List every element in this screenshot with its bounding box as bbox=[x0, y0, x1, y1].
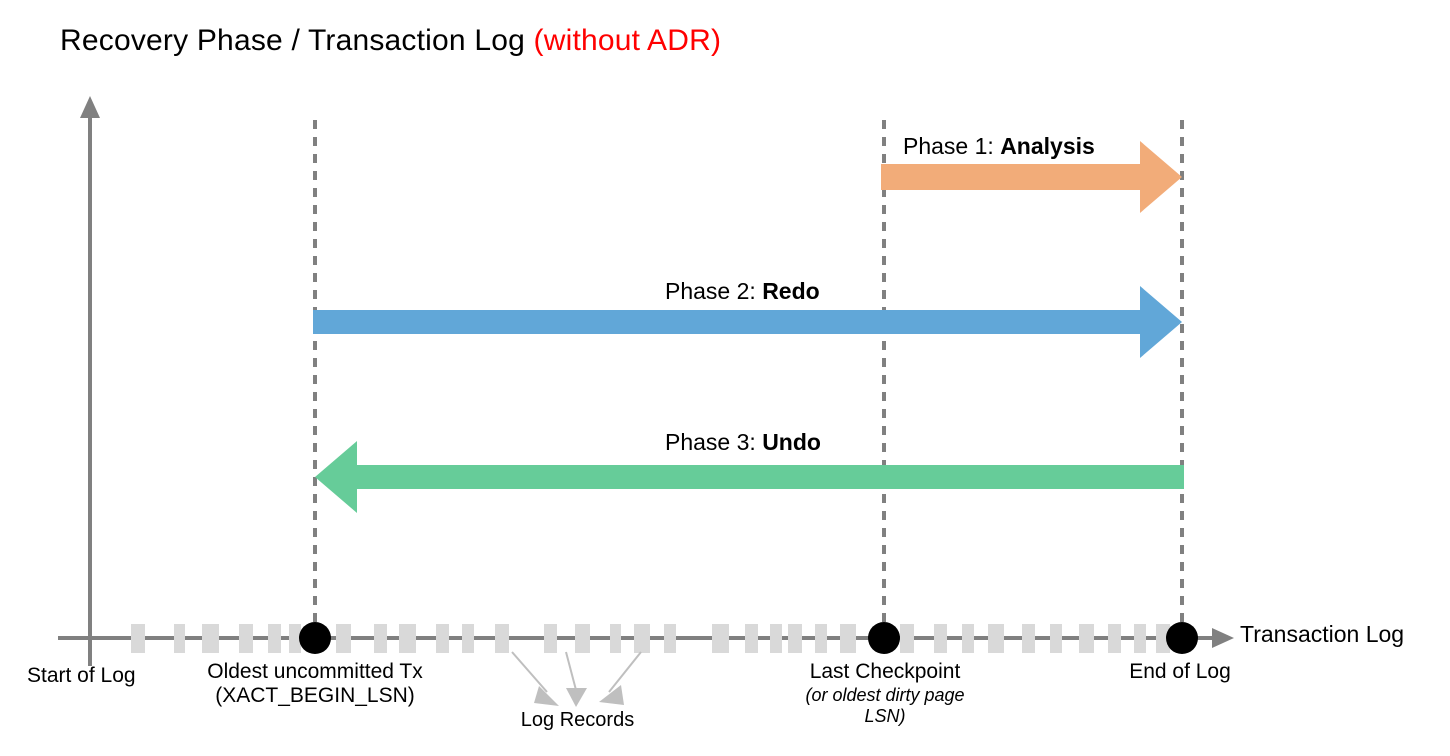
page-title-main: Recovery Phase / Transaction Log bbox=[60, 24, 534, 57]
oldest-uncommitted-tx-line1: Oldest uncommitted Tx bbox=[207, 660, 423, 683]
end-of-log-label: End of Log bbox=[1105, 660, 1255, 684]
log-records-callout-arrows bbox=[512, 652, 641, 707]
phase3-label-name: Undo bbox=[762, 429, 821, 455]
oldest-uncommitted-tx-line2: (XACT_BEGIN_LSN) bbox=[185, 684, 445, 708]
last-checkpoint-label: Last Checkpoint (or oldest dirty page LS… bbox=[785, 660, 985, 726]
start-of-log-label: Start of Log bbox=[27, 664, 136, 688]
milestone-dot-oldest-tx bbox=[299, 622, 331, 654]
phase2-label-name: Redo bbox=[762, 278, 820, 304]
phase2-label-prefix: Phase 2: bbox=[665, 278, 762, 304]
phase1-label-name: Analysis bbox=[1000, 133, 1095, 159]
log-records-label: Log Records bbox=[495, 709, 660, 732]
milestone-dot-end-of-log bbox=[1166, 622, 1198, 654]
phase2-label: Phase 2: Redo bbox=[665, 278, 820, 305]
page-title-accent: (without ADR) bbox=[534, 24, 722, 57]
phase3-label-prefix: Phase 3: bbox=[665, 429, 762, 455]
diagram-graphics bbox=[0, 0, 1450, 756]
page-title: Recovery Phase / Transaction Log (withou… bbox=[60, 24, 721, 58]
last-checkpoint-sub2: LSN) bbox=[785, 706, 985, 726]
y-axis bbox=[80, 96, 100, 666]
guide-lines bbox=[315, 120, 1182, 634]
diagram-canvas: Recovery Phase / Transaction Log (withou… bbox=[0, 0, 1450, 756]
oldest-uncommitted-tx-label: Oldest uncommitted Tx (XACT_BEGIN_LSN) bbox=[185, 660, 445, 708]
phase1-label: Phase 1: Analysis bbox=[903, 133, 1095, 160]
last-checkpoint-line1: Last Checkpoint bbox=[810, 660, 961, 683]
phase1-label-prefix: Phase 1: bbox=[903, 133, 1000, 159]
axis-name-label: Transaction Log bbox=[1240, 621, 1404, 648]
phase3-label: Phase 3: Undo bbox=[665, 429, 821, 456]
last-checkpoint-sub1: (or oldest dirty page bbox=[785, 685, 985, 705]
milestone-dot-last-checkpoint bbox=[868, 622, 900, 654]
